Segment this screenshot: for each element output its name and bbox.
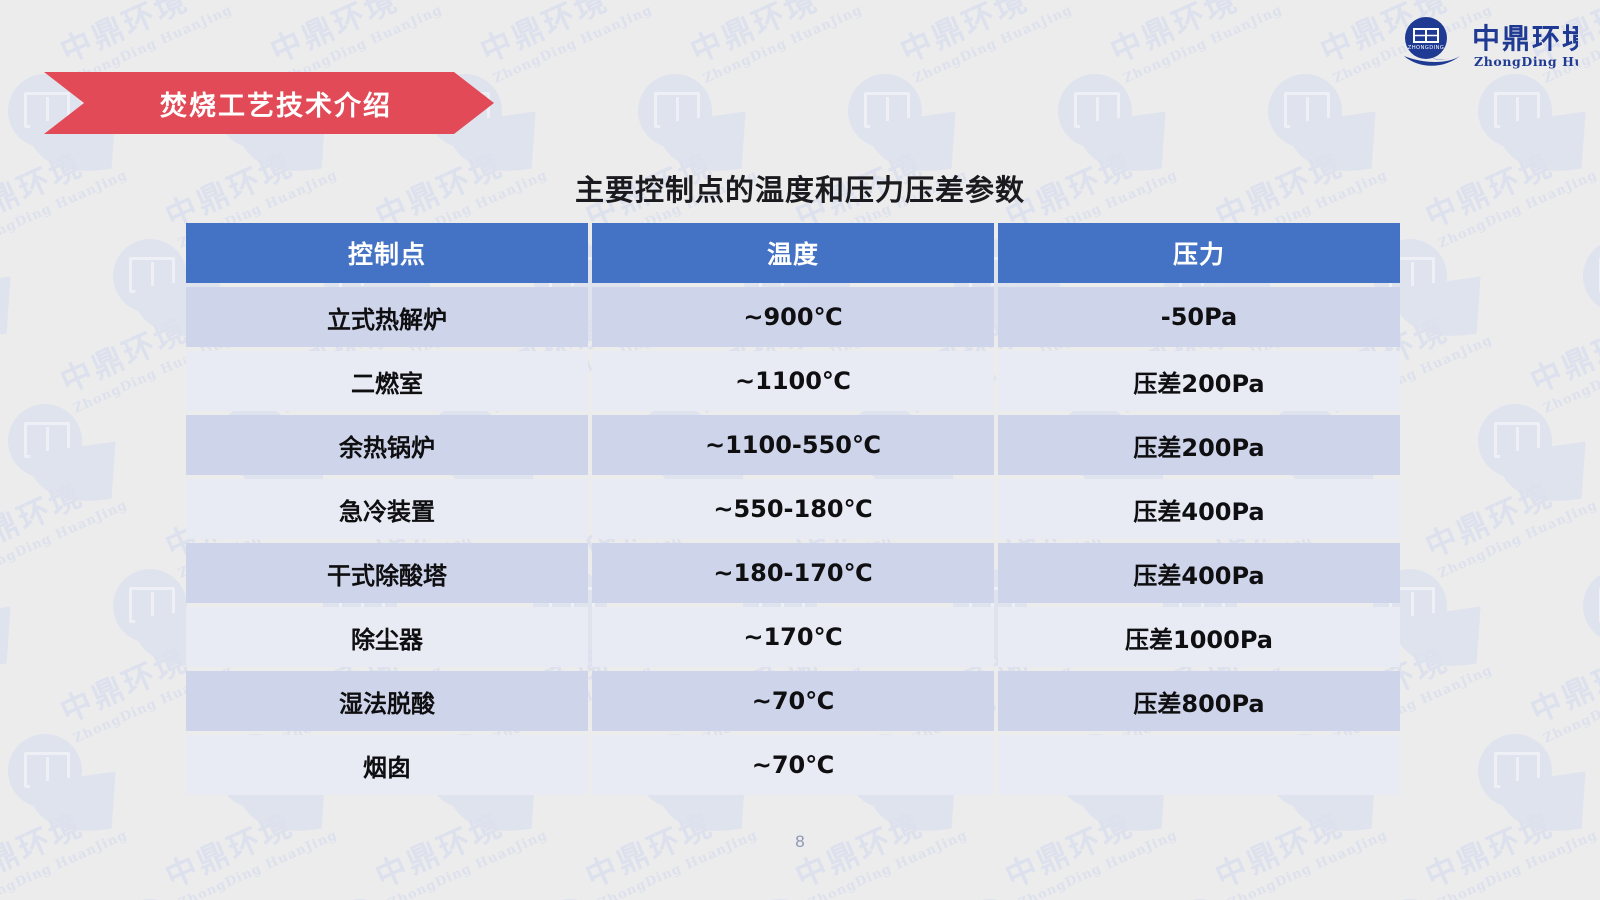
- section-banner-label: 焚烧工艺技术介绍: [146, 84, 392, 123]
- cell-temperature: ~550-180℃: [592, 479, 994, 539]
- logo-brand-text-icon: 中鼎环境 ZhongDing HuanJing: [1472, 22, 1578, 69]
- section-banner: 焚烧工艺技术介绍: [44, 72, 494, 134]
- table-row: 余热锅炉 ~1100-550℃ 压差200Pa: [186, 415, 1400, 475]
- table-row: 湿法脱酸 ~70℃ 压差800Pa: [186, 671, 1400, 731]
- cell-pressure: -50Pa: [998, 287, 1400, 347]
- cell-control-point: 二燃室: [186, 351, 588, 411]
- company-logo: ZHONGDING 中鼎环境 ZhongDing HuanJing: [1398, 12, 1578, 78]
- cell-temperature: ~1100℃: [592, 351, 994, 411]
- table-row: 干式除酸塔 ~180-170℃ 压差400Pa: [186, 543, 1400, 603]
- cell-control-point: 立式热解炉: [186, 287, 588, 347]
- table-header-row: 控制点 温度 压力: [186, 223, 1400, 283]
- cell-pressure: 压差400Pa: [998, 479, 1400, 539]
- cell-pressure: [998, 735, 1400, 795]
- cell-temperature: ~70℃: [592, 671, 994, 731]
- cell-control-point: 余热锅炉: [186, 415, 588, 475]
- cell-control-point: 湿法脱酸: [186, 671, 588, 731]
- cell-control-point: 除尘器: [186, 607, 588, 667]
- column-header-temperature: 温度: [592, 223, 994, 283]
- table-row: 除尘器 ~170℃ 压差1000Pa: [186, 607, 1400, 667]
- cell-temperature: ~1100-550℃: [592, 415, 994, 475]
- cell-temperature: ~170℃: [592, 607, 994, 667]
- table-row: 烟囱 ~70℃: [186, 735, 1400, 795]
- svg-text:ZHONGDING: ZHONGDING: [1408, 45, 1444, 51]
- cell-pressure: 压差200Pa: [998, 415, 1400, 475]
- column-header-control-point: 控制点: [186, 223, 588, 283]
- cell-temperature: ~70℃: [592, 735, 994, 795]
- svg-text:ZhongDing HuanJing: ZhongDing HuanJing: [1474, 54, 1578, 69]
- column-header-pressure: 压力: [998, 223, 1400, 283]
- table-row: 立式热解炉 ~900℃ -50Pa: [186, 287, 1400, 347]
- table-row: 二燃室 ~1100℃ 压差200Pa: [186, 351, 1400, 411]
- slide-content: 焚烧工艺技术介绍 ZHONGDING 中鼎环境 ZhongDing HuanJi…: [0, 0, 1600, 900]
- cell-temperature: ~900℃: [592, 287, 994, 347]
- slide-canvas: 中鼎环境ZhongDing HuanJing中鼎环境ZhongDing Huan…: [0, 0, 1600, 900]
- parameter-table-wrap: 控制点 温度 压力 立式热解炉 ~900℃ -50Pa 二燃室 ~1100℃ 压…: [182, 219, 1396, 799]
- cell-pressure: 压差200Pa: [998, 351, 1400, 411]
- cell-temperature: ~180-170℃: [592, 543, 994, 603]
- svg-text:中鼎环境: 中鼎环境: [1472, 22, 1578, 55]
- table-row: 急冷装置 ~550-180℃ 压差400Pa: [186, 479, 1400, 539]
- table-header: 控制点 温度 压力: [186, 223, 1400, 283]
- page-number: 8: [0, 832, 1600, 852]
- logo-emblem-icon: ZHONGDING: [1404, 17, 1460, 66]
- cell-pressure: 压差800Pa: [998, 671, 1400, 731]
- table-title: 主要控制点的温度和压力压差参数: [0, 167, 1600, 209]
- table-body: 立式热解炉 ~900℃ -50Pa 二燃室 ~1100℃ 压差200Pa 余热锅…: [186, 287, 1400, 795]
- cell-pressure: 压差1000Pa: [998, 607, 1400, 667]
- cell-pressure: 压差400Pa: [998, 543, 1400, 603]
- cell-control-point: 急冷装置: [186, 479, 588, 539]
- parameter-table: 控制点 温度 压力 立式热解炉 ~900℃ -50Pa 二燃室 ~1100℃ 压…: [182, 219, 1404, 799]
- cell-control-point: 干式除酸塔: [186, 543, 588, 603]
- cell-control-point: 烟囱: [186, 735, 588, 795]
